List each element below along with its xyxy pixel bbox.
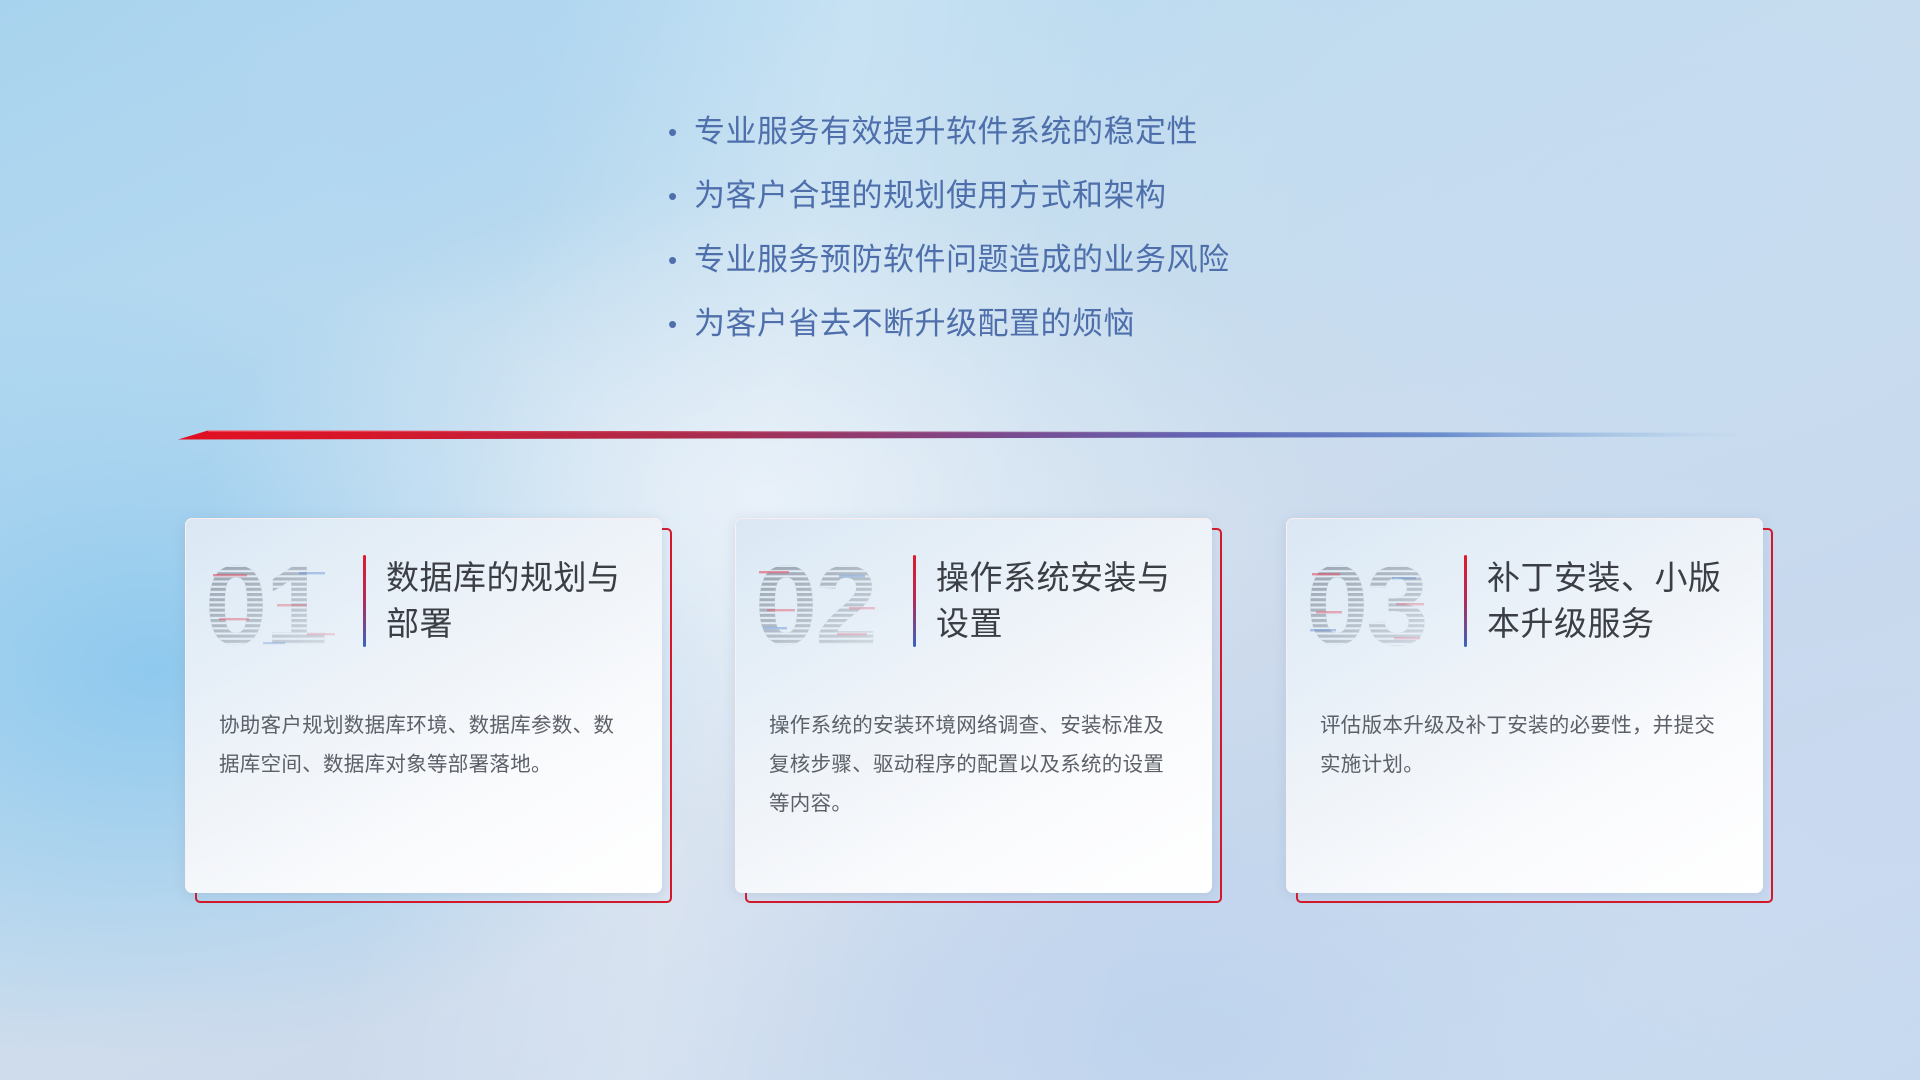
card-number-watermark: 01 01	[203, 541, 355, 661]
card-title: 补丁安装、小版本升级服务	[1487, 555, 1763, 647]
card-03[interactable]: 03 03	[1286, 518, 1773, 903]
bullet-item-2: • 为客户合理的规划使用方式和架构	[668, 174, 1428, 238]
card-02[interactable]: 02 02	[735, 518, 1222, 903]
card-number-watermark: 02 02	[753, 541, 905, 661]
card-header: 01 01	[185, 536, 662, 666]
card-body-text: 操作系统的安装环境网络调查、安装标准及复核步骤、驱动程序的配置以及系统的设置等内…	[769, 706, 1183, 823]
bullet-text: 为客户省去不断升级配置的烦恼	[694, 302, 1135, 346]
bullet-marker-icon: •	[668, 238, 694, 282]
striped-number-icon: 01 01	[203, 541, 355, 661]
svg-text:03: 03	[1306, 543, 1427, 661]
bullet-marker-icon: •	[668, 110, 694, 154]
bullet-item-4: • 为客户省去不断升级配置的烦恼	[668, 302, 1428, 366]
svg-text:02: 02	[755, 543, 876, 661]
divider-shape-icon	[178, 424, 1758, 446]
card-header: 03 03	[1286, 536, 1763, 666]
slide-canvas: • 专业服务有效提升软件系统的稳定性 • 为客户合理的规划使用方式和架构 • 专…	[0, 0, 1920, 1080]
section-divider	[178, 424, 1758, 446]
card-divider-bar	[913, 555, 916, 647]
card-01[interactable]: 01 01	[185, 518, 672, 903]
striped-number-icon: 02 02	[753, 541, 905, 661]
bullet-item-1: • 专业服务有效提升软件系统的稳定性	[668, 110, 1428, 174]
card-surface[interactable]: 01 01	[185, 518, 662, 893]
bullet-text: 专业服务预防软件问题造成的业务风险	[694, 238, 1230, 282]
card-surface[interactable]: 02 02	[735, 518, 1212, 893]
bullet-item-3: • 专业服务预防软件问题造成的业务风险	[668, 238, 1428, 302]
bullet-text: 为客户合理的规划使用方式和架构	[694, 174, 1167, 218]
card-divider-bar	[1464, 555, 1467, 647]
card-header: 02 02	[735, 536, 1212, 666]
bullet-text: 专业服务有效提升软件系统的稳定性	[694, 110, 1198, 154]
card-surface[interactable]: 03 03	[1286, 518, 1763, 893]
bullet-list: • 专业服务有效提升软件系统的稳定性 • 为客户合理的规划使用方式和架构 • 专…	[668, 110, 1428, 366]
card-title: 数据库的规划与部署	[386, 555, 662, 647]
striped-number-icon: 03 03	[1304, 541, 1456, 661]
card-divider-bar	[363, 555, 366, 647]
bullet-marker-icon: •	[668, 302, 694, 346]
bullet-marker-icon: •	[668, 174, 694, 218]
card-number-watermark: 03 03	[1304, 541, 1456, 661]
card-title: 操作系统安装与设置	[936, 555, 1212, 647]
card-body-text: 评估版本升级及补丁安装的必要性，并提交实施计划。	[1320, 706, 1734, 784]
card-row: 01 01	[185, 518, 1760, 918]
card-body-text: 协助客户规划数据库环境、数据库参数、数据库空间、数据库对象等部署落地。	[219, 706, 633, 784]
